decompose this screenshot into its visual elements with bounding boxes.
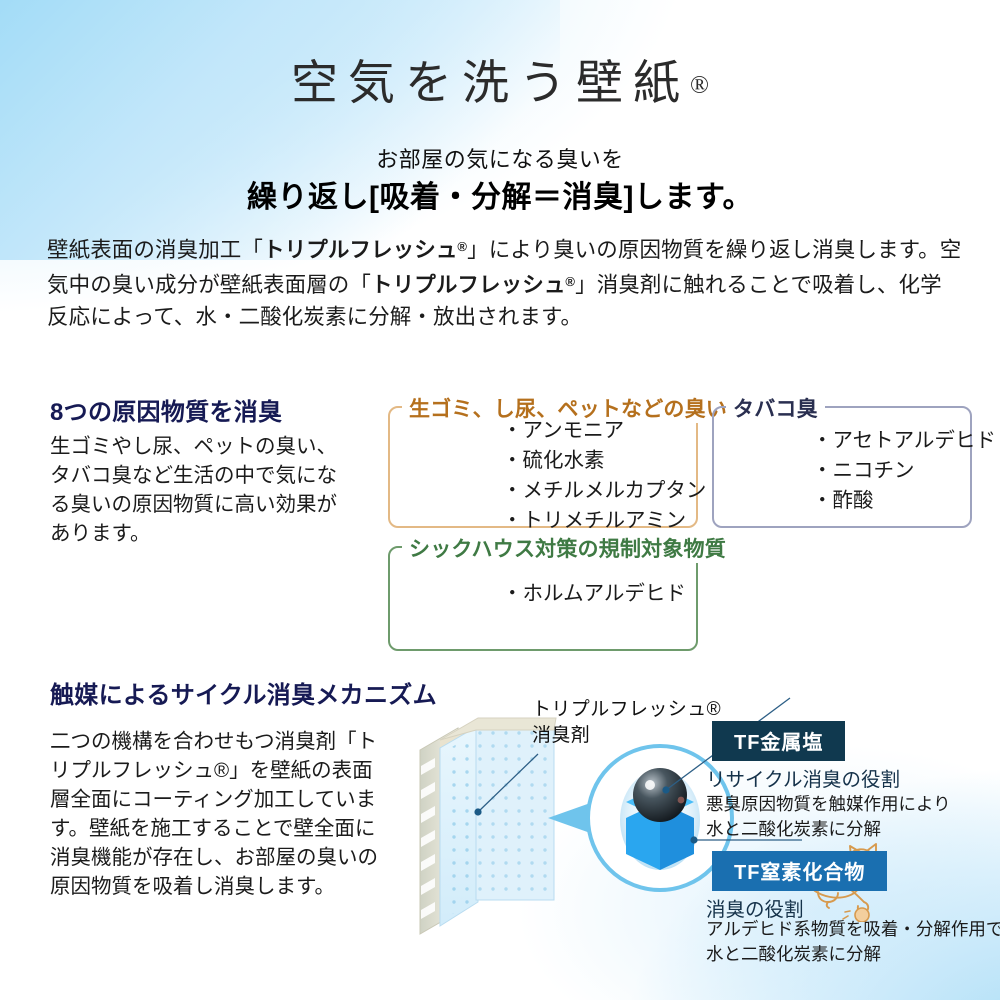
- intro-paragraph: 壁紙表面の消臭加工「トリプルフレッシュ®」により臭いの原因物質を繰り返し消臭しま…: [47, 231, 962, 333]
- background-gradient-top-left: [0, 0, 560, 260]
- diagram-callout-product: トリプルフレッシュ® 消臭剤: [532, 697, 721, 749]
- list-item: ・ホルムアルデヒド: [502, 579, 686, 609]
- list-item: ・硫化水素: [502, 446, 706, 476]
- list-item: ・酢酸: [812, 486, 996, 516]
- diagram-callout-product-line2: 消臭剤: [532, 723, 721, 749]
- intro-brand-1: トリプルフレッシュ: [263, 238, 457, 262]
- badge-tf-nitrogen-compound: TF窒素化合物: [712, 851, 887, 891]
- desc-tf-metal-salt: 悪臭原因物質を触媒作用により 水と二酸化炭素に分解: [706, 792, 951, 842]
- diagram-callout-product-line1: トリプルフレッシュ®: [532, 697, 721, 723]
- odor-box-sickhouse: シックハウス対策の規制対象物質: [388, 546, 698, 651]
- tf-metal-sphere: [633, 768, 687, 822]
- registered-mark-icon: ®: [690, 72, 709, 99]
- lead-line-2: 繰り返し[吸着・分解＝消臭]します。: [0, 172, 1000, 216]
- list-item: ・アセトアルデヒド: [812, 426, 996, 456]
- section-heading-mechanism: 触媒によるサイクル消臭メカニズム: [50, 675, 437, 710]
- registered-mark-icon: ®: [457, 239, 467, 254]
- badge-tf-metal-salt: TF金属塩: [712, 721, 845, 761]
- desc-tf-nitrogen-compound: アルデヒド系物質を吸着・分解作用で 水と二酸化炭素に分解: [706, 917, 1000, 967]
- intro-part-1: 壁紙表面の消臭加工「: [47, 238, 263, 262]
- desc-line: 水と二酸化炭素に分解: [706, 817, 951, 842]
- page-title-text: 空気を洗う壁紙: [291, 58, 690, 110]
- section-body-mechanism: 二つの機構を合わせもつ消臭剤「トリプルフレッシュ®」を壁紙の表面層全面にコーティ…: [50, 727, 380, 901]
- intro-brand-2: トリプルフレッシュ: [371, 273, 565, 297]
- desc-line: 水と二酸化炭素に分解: [706, 942, 1000, 967]
- odor-box-sickhouse-items: ・ホルムアルデヒド: [502, 579, 686, 609]
- section-heading-substances: 8つの原因物質を消臭: [50, 392, 282, 427]
- list-item: ・メチルメルカプタン: [502, 476, 706, 506]
- odor-box-tobacco-items: ・アセトアルデヒド ・ニコチン ・酢酸: [812, 426, 996, 516]
- role-tf-metal-salt: リサイクル消臭の役割: [706, 763, 900, 792]
- desc-line: アルデヒド系物質を吸着・分解作用で: [706, 917, 1000, 942]
- odor-box-tobacco: タバコ臭 ・アセトアルデヒド ・ニコチン ・酢酸: [712, 406, 972, 528]
- odor-box-tobacco-legend: タバコ臭: [726, 393, 825, 423]
- list-item: ・アンモニア: [502, 416, 706, 446]
- odor-box-household-items: ・アンモニア ・硫化水素 ・メチルメルカプタン ・トリメチルアミン: [502, 416, 706, 536]
- list-item: ・ニコチン: [812, 456, 996, 486]
- page-root: 空気を洗う壁紙® お部屋の気になる臭いを 繰り返し[吸着・分解＝消臭]します。 …: [0, 0, 1000, 1000]
- desc-line: 悪臭原因物質を触媒作用により: [706, 792, 951, 817]
- section-body-substances: 生ゴミやし尿、ペットの臭い、タバコ臭など生活の中で気になる臭いの原因物質に高い効…: [50, 432, 355, 548]
- odor-box-sickhouse-legend: シックハウス対策の規制対象物質: [402, 533, 733, 563]
- registered-mark-icon: ®: [565, 274, 575, 289]
- list-item: ・トリメチルアミン: [502, 506, 706, 536]
- lead-line-1: お部屋の気になる臭いを: [0, 142, 1000, 174]
- page-title: 空気を洗う壁紙®: [0, 44, 1000, 113]
- wallpaper-cross-section: [420, 718, 556, 934]
- odor-box-household: 生ゴミ、し尿、ペットなどの臭い: [388, 406, 698, 528]
